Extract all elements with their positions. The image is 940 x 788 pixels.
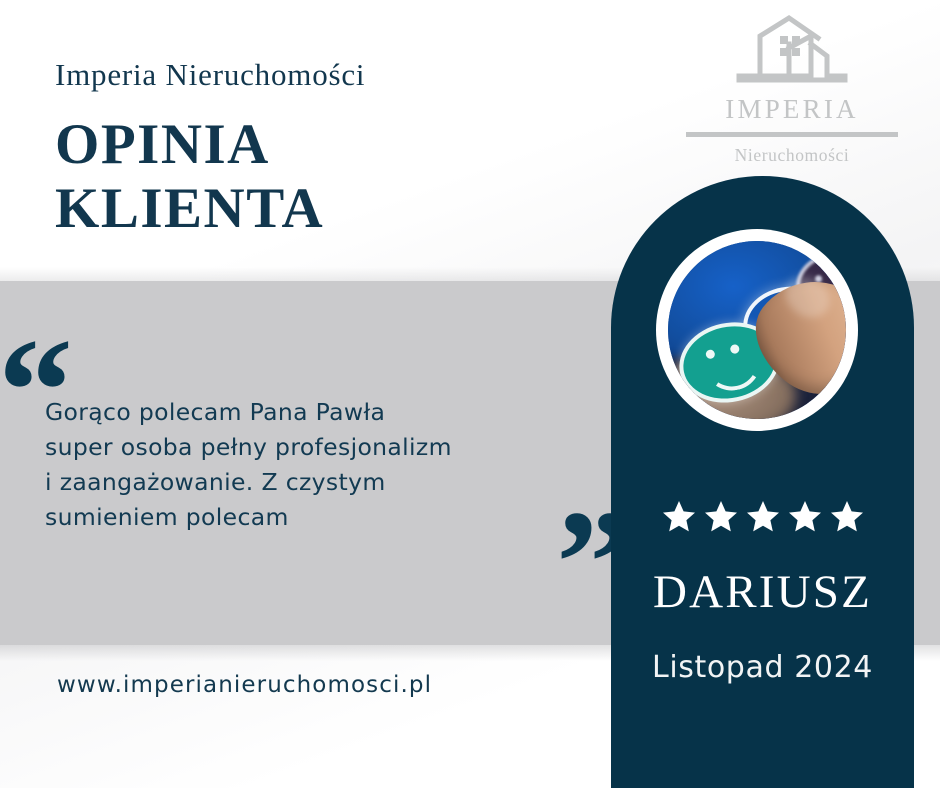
company-logo: IMPERIA Nieruchomości (686, 14, 898, 166)
website-url[interactable]: www.imperianieruchomosci.pl (57, 672, 432, 698)
testimonial-line-3: i zaangażowanie. Z czystym (45, 465, 590, 500)
star-icon (704, 500, 738, 533)
testimonial-card: Imperia Nieruchomości OPINIA KLIENTA (0, 0, 940, 788)
testimonial-text: Gorąco polecam Pana Pawła super osoba pe… (45, 395, 590, 535)
satisfaction-rating-photo (668, 241, 846, 419)
logo-wordmark: IMPERIA (686, 94, 898, 125)
photo-ring (656, 229, 858, 431)
testimonial-line-2: super osoba pełny profesjonalizm (45, 430, 590, 465)
headline-line-2: KLIENTA (55, 177, 324, 241)
testimonial-line-4: sumieniem polecam (45, 500, 590, 535)
page-title: OPINIA KLIENTA (55, 113, 324, 241)
rating-stars (611, 500, 914, 538)
brand-name: Imperia Nieruchomości (55, 57, 365, 93)
logo-subtitle: Nieruchomości (686, 145, 898, 166)
star-icon (830, 500, 864, 533)
star-icon (746, 500, 780, 533)
review-date: Listopad 2024 (611, 650, 914, 685)
star-icon (662, 500, 696, 533)
house-outline-icon (727, 14, 857, 92)
headline-line-1: OPINIA (55, 113, 324, 177)
logo-divider (686, 132, 898, 137)
reviewer-name: DARIUSZ (611, 565, 914, 619)
star-icon (788, 500, 822, 533)
testimonial-line-1: Gorąco polecam Pana Pawła (45, 395, 590, 430)
